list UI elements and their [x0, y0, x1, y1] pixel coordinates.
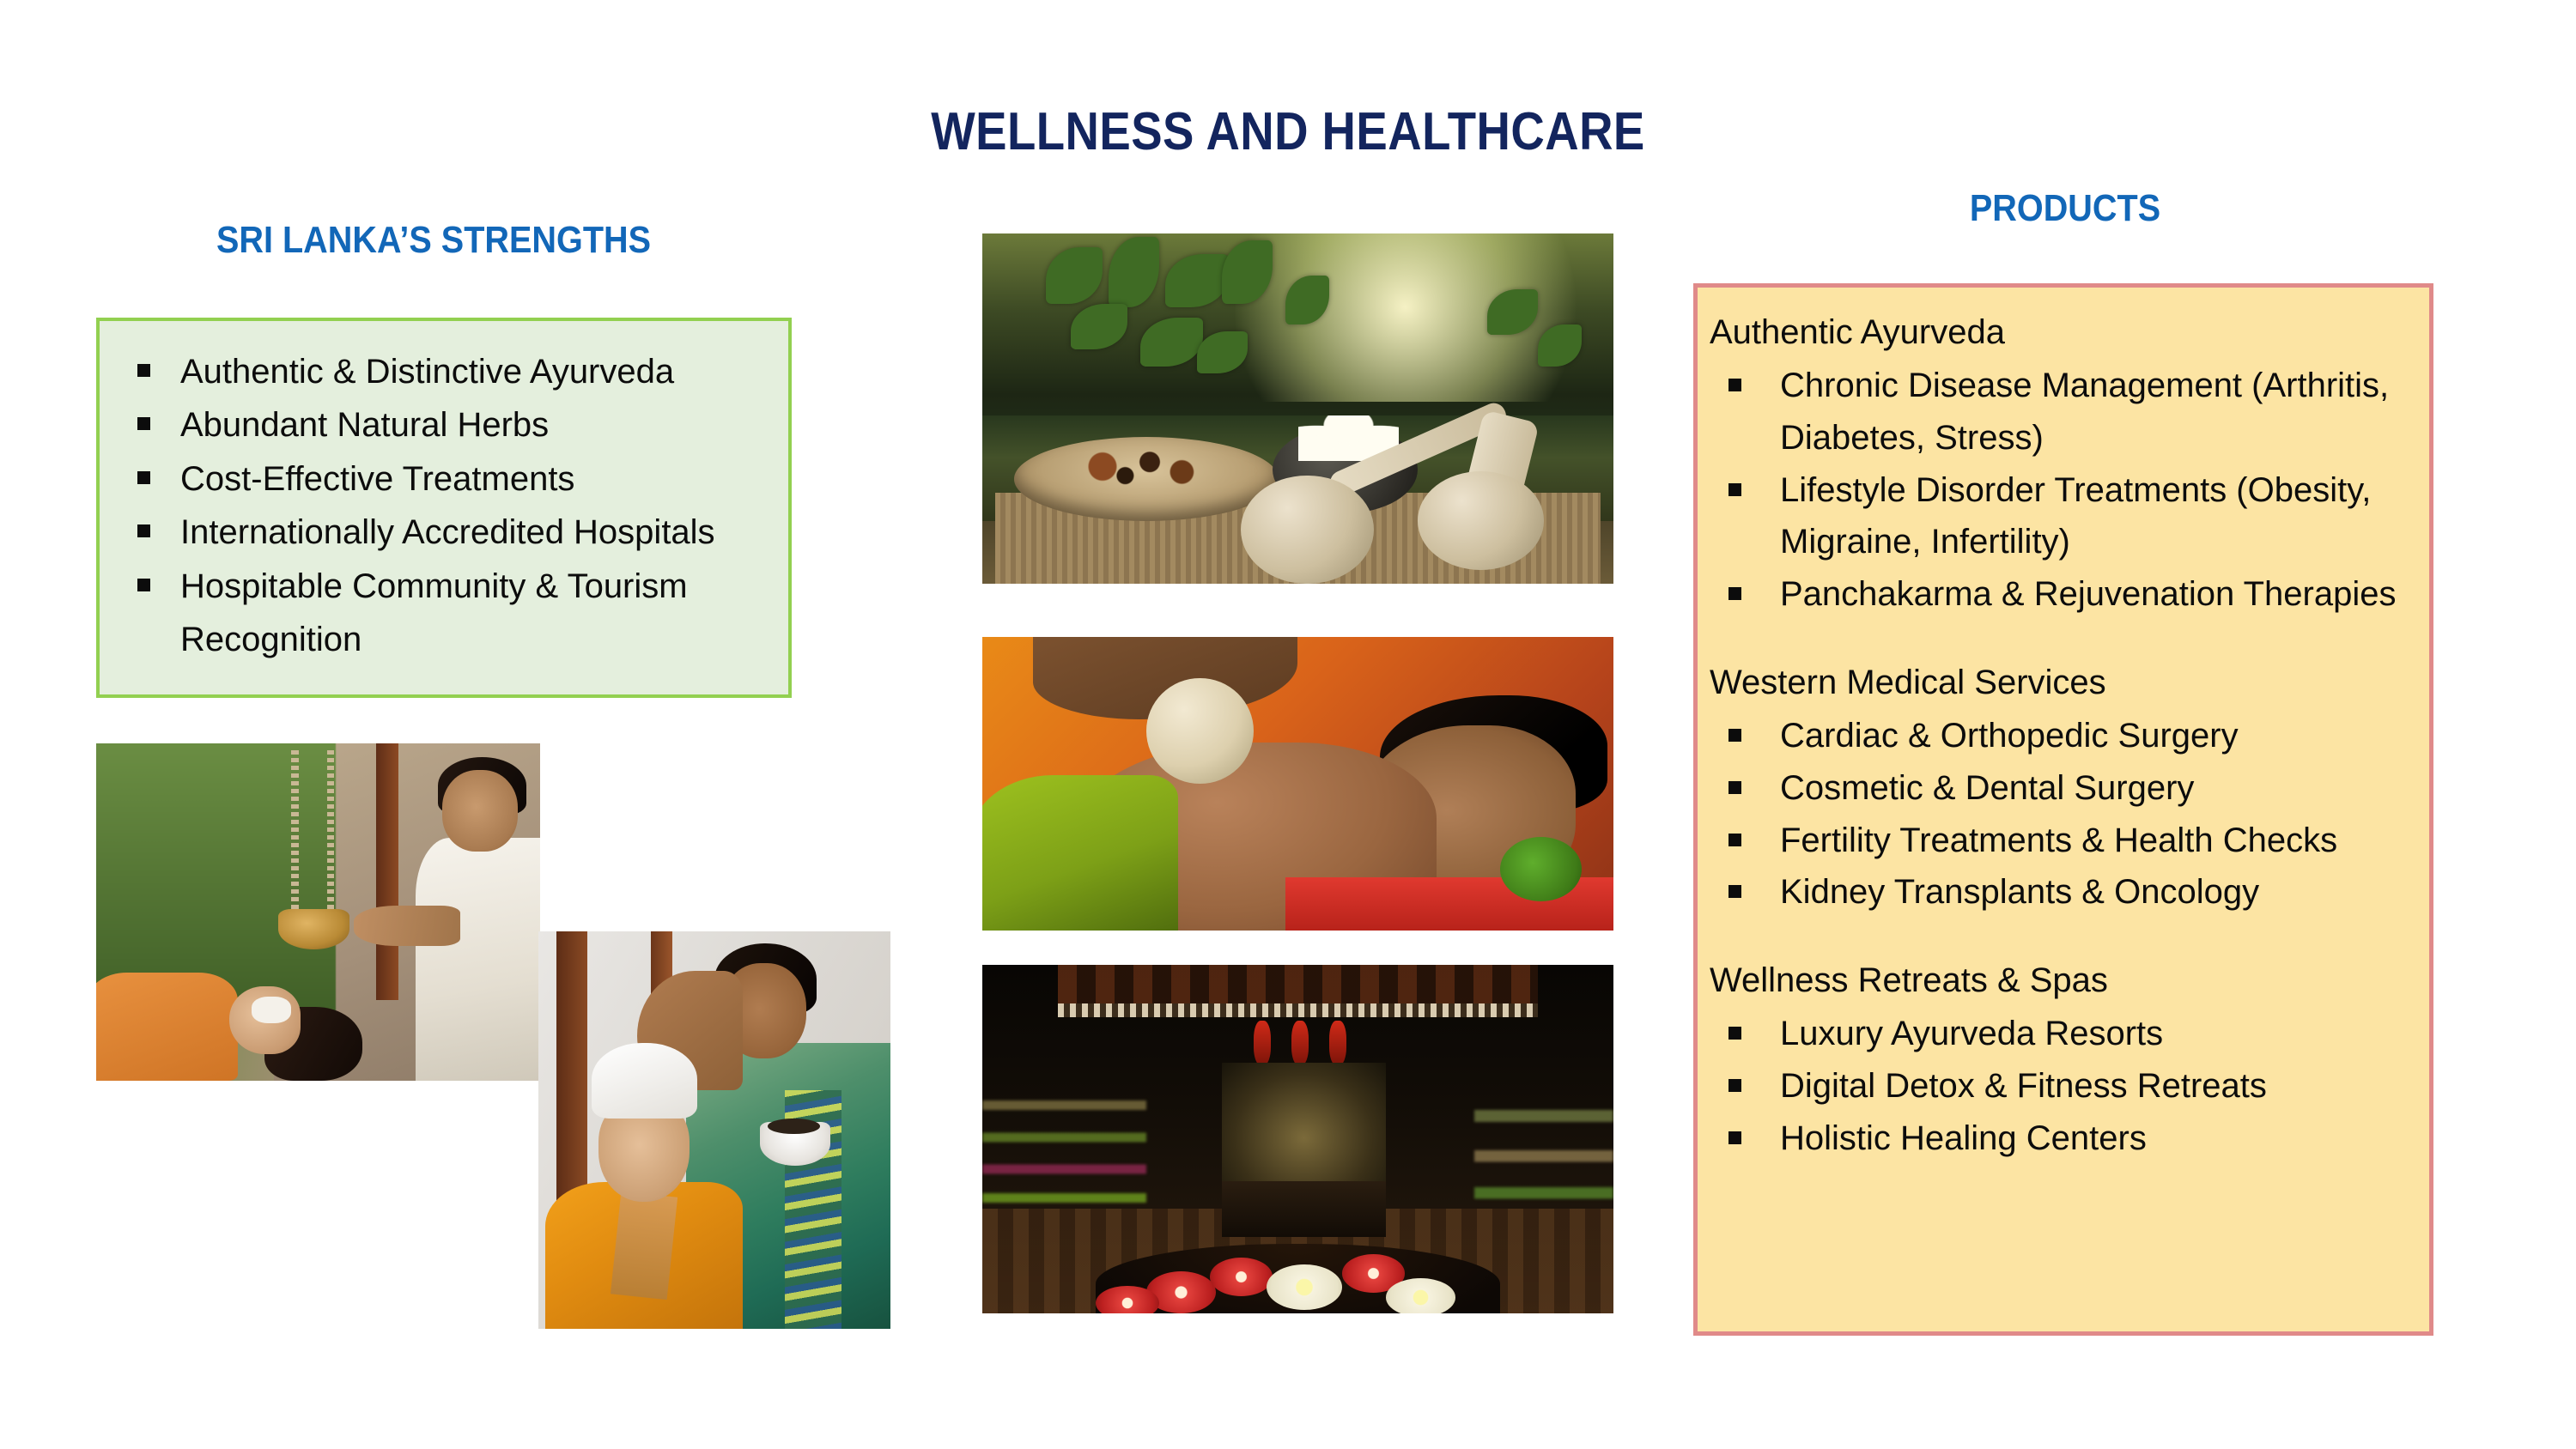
strengths-list: Authentic & Distinctive Ayurveda Abundan…: [100, 321, 788, 666]
strengths-item-label: Abundant Natural Herbs: [180, 406, 549, 444]
product-group-title: Wellness Retreats & Spas: [1710, 955, 2429, 1006]
list-item: Cardiac & Orthopedic Surgery: [1710, 710, 2429, 762]
product-group-list: Cardiac & Orthopedic Surgery Cosmetic & …: [1710, 710, 2429, 919]
square-bullet-icon: [137, 417, 150, 430]
list-item: Digital Detox & Fitness Retreats: [1710, 1060, 2429, 1113]
product-item-label: Kidney Transplants & Oncology: [1780, 873, 2259, 911]
list-item: Authentic & Distinctive Ayurveda: [118, 345, 766, 398]
product-item-label: Luxury Ayurveda Resorts: [1780, 1015, 2163, 1052]
list-item: Internationally Accredited Hospitals: [118, 506, 766, 559]
square-bullet-icon: [1728, 834, 1741, 846]
group-spacer: [1710, 621, 2429, 657]
product-item-label: Cardiac & Orthopedic Surgery: [1780, 717, 2239, 755]
product-item-label: Fertility Treatments & Health Checks: [1780, 822, 2337, 859]
product-item-label: Chronic Disease Management (Arthritis, D…: [1780, 367, 2389, 457]
list-item: Cost-Effective Treatments: [118, 452, 766, 506]
product-item-label: Lifestyle Disorder Treatments (Obesity, …: [1780, 471, 2371, 561]
shirodhara-photo: [96, 743, 540, 1081]
square-bullet-icon: [1728, 483, 1741, 496]
square-bullet-icon: [1728, 885, 1741, 898]
list-item: Holistic Healing Centers: [1710, 1113, 2429, 1165]
product-group-title: Authentic Ayurveda: [1710, 306, 2429, 358]
list-item: Fertility Treatments & Health Checks: [1710, 815, 2429, 867]
list-item: Panchakarma & Rejuvenation Therapies: [1710, 568, 2429, 621]
square-bullet-icon: [1728, 781, 1741, 794]
products-box: Authentic Ayurveda Chronic Disease Manag…: [1693, 283, 2433, 1336]
product-item-label: Panchakarma & Rejuvenation Therapies: [1780, 575, 2396, 613]
list-item: Luxury Ayurveda Resorts: [1710, 1008, 2429, 1060]
product-item-label: Digital Detox & Fitness Retreats: [1780, 1067, 2267, 1105]
square-bullet-icon: [137, 471, 150, 484]
square-bullet-icon: [1728, 1131, 1741, 1144]
square-bullet-icon: [137, 364, 150, 377]
square-bullet-icon: [1728, 587, 1741, 600]
list-item: Abundant Natural Herbs: [118, 398, 766, 452]
list-item: Kidney Transplants & Oncology: [1710, 866, 2429, 919]
square-bullet-icon: [1728, 729, 1741, 742]
square-bullet-icon: [137, 579, 150, 591]
product-group-list: Chronic Disease Management (Arthritis, D…: [1710, 360, 2429, 621]
ayurveda-pond-photo: [982, 233, 1613, 584]
square-bullet-icon: [137, 524, 150, 537]
product-group-list: Luxury Ayurveda Resorts Digital Detox & …: [1710, 1008, 2429, 1164]
product-item-label: Holistic Healing Centers: [1780, 1119, 2147, 1157]
list-item: Hospitable Community & Tourism Recogniti…: [118, 560, 766, 667]
list-item: Lifestyle Disorder Treatments (Obesity, …: [1710, 464, 2429, 569]
square-bullet-icon: [1728, 1027, 1741, 1040]
group-spacer: [1710, 919, 2429, 955]
square-bullet-icon: [1728, 1079, 1741, 1092]
page-title: WELLNESS AND HEALTHCARE: [155, 101, 2421, 162]
product-group-title: Western Medical Services: [1710, 657, 2429, 708]
strengths-item-label: Cost-Effective Treatments: [180, 460, 574, 498]
strengths-item-label: Internationally Accredited Hospitals: [180, 513, 715, 551]
products-heading: PRODUCTS: [1737, 187, 2394, 230]
spa-boutique-photo: [982, 965, 1613, 1313]
head-treatment-photo: [538, 931, 890, 1329]
product-item-label: Cosmetic & Dental Surgery: [1780, 769, 2194, 807]
list-item: Cosmetic & Dental Surgery: [1710, 762, 2429, 815]
square-bullet-icon: [1728, 379, 1741, 391]
strengths-heading: SRI LANKA’S STRENGTHS: [129, 219, 739, 262]
poultice-massage-photo: [982, 637, 1613, 931]
strengths-box: Authentic & Distinctive Ayurveda Abundan…: [96, 318, 792, 698]
strengths-item-label: Authentic & Distinctive Ayurveda: [180, 353, 674, 391]
list-item: Chronic Disease Management (Arthritis, D…: [1710, 360, 2429, 464]
strengths-item-label: Hospitable Community & Tourism Recogniti…: [180, 567, 688, 658]
